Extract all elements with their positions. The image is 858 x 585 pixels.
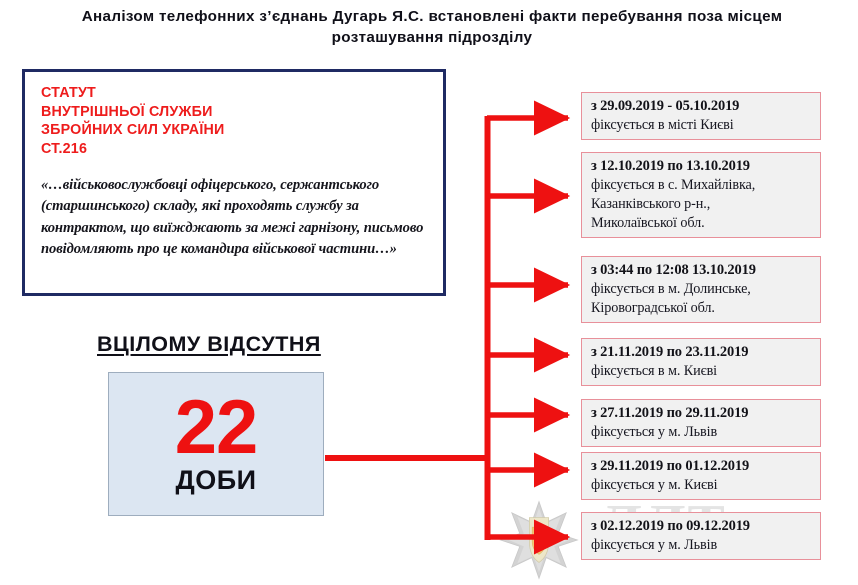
event-location: фіксується у м. Києві: [591, 476, 813, 495]
event-box: з 29.11.2019 по 01.12.2019 фіксується у …: [581, 452, 821, 500]
event-date-range: з 02.12.2019 по 09.12.2019: [591, 517, 813, 536]
event-box: з 21.11.2019 по 23.11.2019 фіксується в …: [581, 338, 821, 386]
statute-heading: СТАТУТ ВНУТРІШНЬОЇ СЛУЖБИ ЗБРОЙНИХ СИЛ У…: [41, 84, 429, 158]
event-date-range: з 29.11.2019 по 01.12.2019: [591, 457, 813, 476]
statute-box: СТАТУТ ВНУТРІШНЬОЇ СЛУЖБИ ЗБРОЙНИХ СИЛ У…: [22, 69, 446, 296]
event-box: з 03:44 по 12:08 13.10.2019 фіксується в…: [581, 256, 821, 323]
event-location: фіксується в м. Києві: [591, 362, 813, 381]
total-days-number: 22: [175, 393, 258, 463]
page-title: Аналізом телефонних з’єднань Дугарь Я.С.…: [62, 6, 802, 48]
total-days-unit: ДОБИ: [175, 465, 256, 496]
event-date-range: з 29.09.2019 - 05.10.2019: [591, 97, 813, 116]
event-location: фіксується в с. Михайлівка, Казанківсько…: [591, 176, 813, 233]
event-date-range: з 21.11.2019 по 23.11.2019: [591, 343, 813, 362]
police-star-trident-emblem-icon: [498, 500, 580, 580]
event-location: фіксується у м. Львів: [591, 536, 813, 555]
absent-heading: ВЦІЛОМУ ВІДСУТНЯ: [97, 332, 321, 357]
event-box: з 29.09.2019 - 05.10.2019 фіксується в м…: [581, 92, 821, 140]
event-date-range: з 03:44 по 12:08 13.10.2019: [591, 261, 813, 280]
event-location: фіксується в м. Долинське, Кіровоградськ…: [591, 280, 813, 318]
total-days-box: 22 ДОБИ: [108, 372, 324, 516]
event-location: фіксується в місті Києві: [591, 116, 813, 135]
event-date-range: з 27.11.2019 по 29.11.2019: [591, 404, 813, 423]
statute-quote: «…військовослужбовці офіцерського, сержа…: [41, 175, 429, 260]
event-location: фіксується у м. Львів: [591, 423, 813, 442]
event-box: з 12.10.2019 по 13.10.2019 фіксується в …: [581, 152, 821, 238]
event-box: з 02.12.2019 по 09.12.2019 фіксується у …: [581, 512, 821, 560]
event-box: з 27.11.2019 по 29.11.2019 фіксується у …: [581, 399, 821, 447]
event-date-range: з 12.10.2019 по 13.10.2019: [591, 157, 813, 176]
